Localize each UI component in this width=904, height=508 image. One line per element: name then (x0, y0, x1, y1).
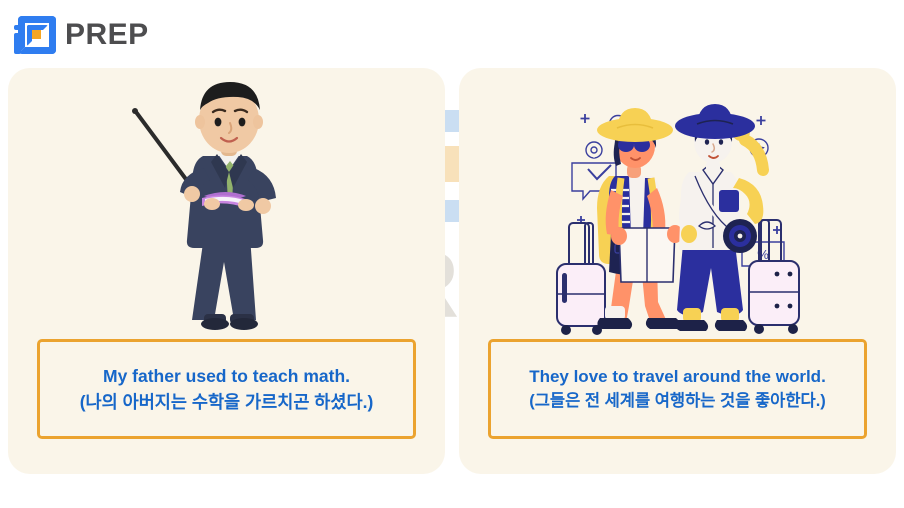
example-card-left: My father used to teach math. (나의 아버지는 수… (8, 68, 445, 474)
example-card-right: $ % (459, 68, 896, 474)
caption-korean-right: (그들은 전 세계를 여행하는 것을 좋아한다.) (529, 392, 826, 411)
caption-english-left: My father used to teach math. (103, 366, 350, 386)
caption-box-left: My father used to teach math. (나의 아버지는 수… (37, 339, 416, 439)
prep-logo-icon (12, 13, 56, 57)
caption-english-right: They love to travel around the world. (529, 367, 826, 387)
caption-korean-left: (나의 아버지는 수학을 가르치곤 하셨다.) (80, 392, 374, 412)
two-travelers-with-suitcases-illustration: $ % (459, 68, 896, 336)
brand-name: PREP (65, 20, 149, 50)
page-root: PREP PREP (0, 0, 904, 508)
caption-box-right: They love to travel around the world. (그… (488, 339, 867, 439)
teacher-with-pointer-illustration (8, 68, 445, 336)
brand-logo[interactable]: PREP (12, 13, 149, 57)
